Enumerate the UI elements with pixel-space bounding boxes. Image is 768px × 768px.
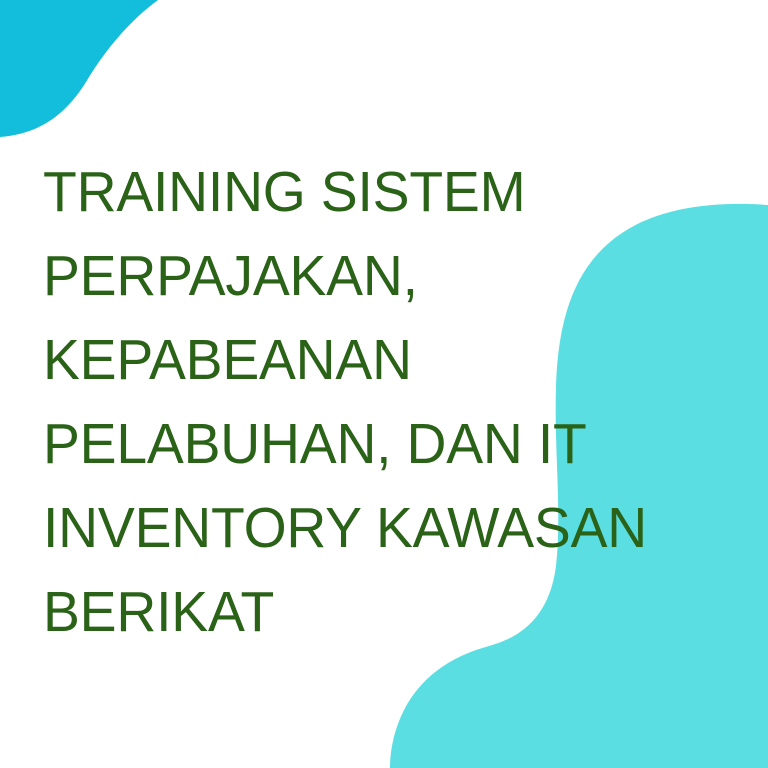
title-line-1: TRAINING SISTEM — [43, 150, 734, 234]
poster-canvas: TRAINING SISTEM PERPAJAKAN, KEPABEANAN P… — [0, 0, 768, 768]
title-line-6: BERIKAT — [43, 570, 734, 654]
title-line-4: PELABUHAN, DAN IT — [43, 402, 734, 486]
cyan-wave-top-left-shape — [0, 0, 158, 137]
title-line-2: PERPAJAKAN, — [43, 234, 734, 318]
title-line-3: KEPABEANAN — [43, 318, 734, 402]
title-line-5: INVENTORY KAWASAN — [43, 486, 734, 570]
page-title: TRAINING SISTEM PERPAJAKAN, KEPABEANAN P… — [43, 150, 755, 654]
